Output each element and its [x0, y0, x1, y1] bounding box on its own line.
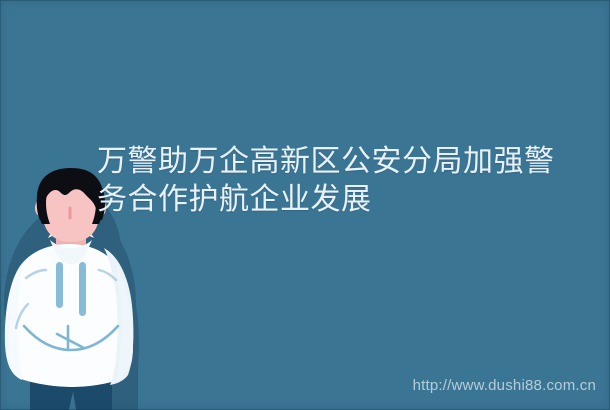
site-watermark-url: http://www.dushi88.com.cn — [413, 377, 596, 394]
hoodie-body — [5, 244, 134, 387]
drawstring-right — [79, 262, 86, 316]
article-thumbnail-image: 万警助万企高新区公安分局加强警 务合作护航企业发展 http://www.dus… — [0, 0, 610, 410]
headline-line-2: 务合作护航企业发展 — [97, 181, 589, 219]
article-headline: 万警助万企高新区公安分局加强警 务合作护航企业发展 — [97, 143, 589, 219]
drawstring-left — [56, 262, 63, 308]
headline-line-1: 万警助万企高新区公安分局加强警 — [97, 143, 589, 181]
